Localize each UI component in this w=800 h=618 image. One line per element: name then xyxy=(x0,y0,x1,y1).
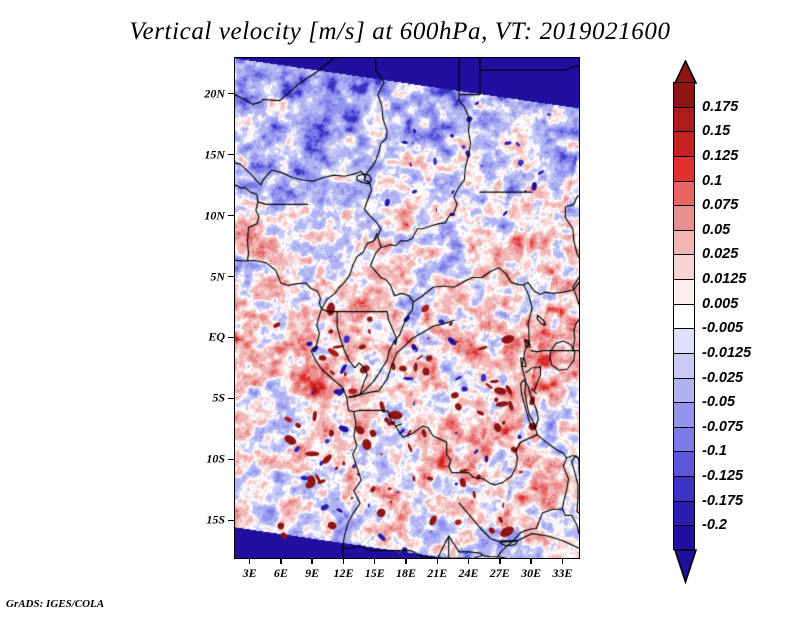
colorbar-segment xyxy=(674,452,694,477)
colorbar-segment xyxy=(674,477,694,502)
x-tick-mark xyxy=(311,558,313,564)
colorbar-segment xyxy=(674,428,694,453)
colorbar-tick-label: 0.05 xyxy=(702,222,730,238)
x-tick-mark xyxy=(343,558,345,564)
y-tick-label: 10N xyxy=(170,208,225,223)
colorbar-tick-label: -0.2 xyxy=(702,517,727,533)
y-tick-label: 5N xyxy=(170,269,225,284)
y-tick-label: EQ xyxy=(170,330,225,345)
colorbar-tick-label: 0.025 xyxy=(702,246,738,262)
x-tick-mark xyxy=(530,558,532,564)
map-plot-area xyxy=(234,57,580,559)
colorbar-tick-label: 0.005 xyxy=(702,296,738,312)
colorbar-tick-label: 0.175 xyxy=(702,99,738,115)
colorbar-segment xyxy=(674,255,694,280)
x-tick-label: 12E xyxy=(333,566,353,581)
colorbar-segment xyxy=(674,108,694,133)
colorbar-segment xyxy=(674,502,694,527)
colorbar-tick-label: 0.0125 xyxy=(702,271,746,287)
vertical-velocity-heatmap xyxy=(235,58,579,558)
y-tick-mark xyxy=(228,276,234,278)
y-tick-label: 15S xyxy=(170,513,225,528)
page-title: Vertical velocity [m/s] at 600hPa, VT: 2… xyxy=(0,18,800,46)
colorbar-tick-label: -0.025 xyxy=(702,370,743,386)
colorbar-segment xyxy=(674,329,694,354)
colorbar-tick-label: 0.1 xyxy=(702,173,722,189)
colorbar-min-arrow-icon xyxy=(673,548,698,584)
x-tick-label: 33E xyxy=(552,566,572,581)
colorbar-segment xyxy=(674,231,694,256)
y-tick-mark xyxy=(228,337,234,339)
colorbar-tick-label: 0.125 xyxy=(702,148,738,164)
colorbar-segment xyxy=(674,379,694,404)
y-tick-mark xyxy=(228,154,234,156)
colorbar-tick-label: 0.15 xyxy=(702,123,730,139)
x-tick-mark xyxy=(437,558,439,564)
x-tick-label: 18E xyxy=(396,566,416,581)
y-tick-mark xyxy=(228,93,234,95)
y-tick-mark xyxy=(228,398,234,400)
colorbar-tick-label: -0.05 xyxy=(702,394,735,410)
y-tick-label: 20N xyxy=(170,86,225,101)
colorbar-segment xyxy=(674,305,694,330)
colorbar-tick-label: -0.1 xyxy=(702,443,727,459)
colorbar-segment xyxy=(674,280,694,305)
colorbar-tick-label: -0.005 xyxy=(702,320,743,336)
x-tick-mark xyxy=(374,558,376,564)
colorbar-tick-label: -0.125 xyxy=(702,468,743,484)
x-tick-label: 21E xyxy=(427,566,447,581)
colorbar-tick-label: -0.175 xyxy=(702,493,743,509)
colorbar-segment xyxy=(674,354,694,379)
x-tick-mark xyxy=(405,558,407,564)
colorbar-max-arrow-icon xyxy=(673,60,698,84)
colorbar-segment xyxy=(674,132,694,157)
y-tick-mark xyxy=(228,215,234,217)
y-tick-mark xyxy=(228,459,234,461)
x-tick-label: 30E xyxy=(521,566,541,581)
x-tick-mark xyxy=(468,558,470,564)
x-tick-label: 9E xyxy=(305,566,319,581)
x-tick-label: 15E xyxy=(365,566,385,581)
colorbar-tick-label: -0.075 xyxy=(702,419,743,435)
y-tick-label: 5S xyxy=(170,391,225,406)
x-tick-mark xyxy=(499,558,501,564)
y-tick-label: 10S xyxy=(170,452,225,467)
x-tick-label: 27E xyxy=(490,566,510,581)
colorbar-segment xyxy=(674,206,694,231)
colorbar-segment xyxy=(674,83,694,108)
x-tick-label: 24E xyxy=(459,566,479,581)
y-tick-mark xyxy=(228,520,234,522)
y-tick-label: 15N xyxy=(170,147,225,162)
x-tick-label: 3E xyxy=(243,566,257,581)
colorbar-tick-label: -0.0125 xyxy=(702,345,751,361)
colorbar-segment xyxy=(674,157,694,182)
colorbar-gradient xyxy=(673,82,695,550)
colorbar-tick-label: 0.075 xyxy=(702,197,738,213)
colorbar-segment xyxy=(674,403,694,428)
x-tick-mark xyxy=(249,558,251,564)
x-tick-label: 6E xyxy=(274,566,288,581)
x-tick-mark xyxy=(562,558,564,564)
x-tick-mark xyxy=(280,558,282,564)
colorbar-segment xyxy=(674,182,694,207)
grads-credit: GrADS: IGES/COLA xyxy=(6,598,104,610)
